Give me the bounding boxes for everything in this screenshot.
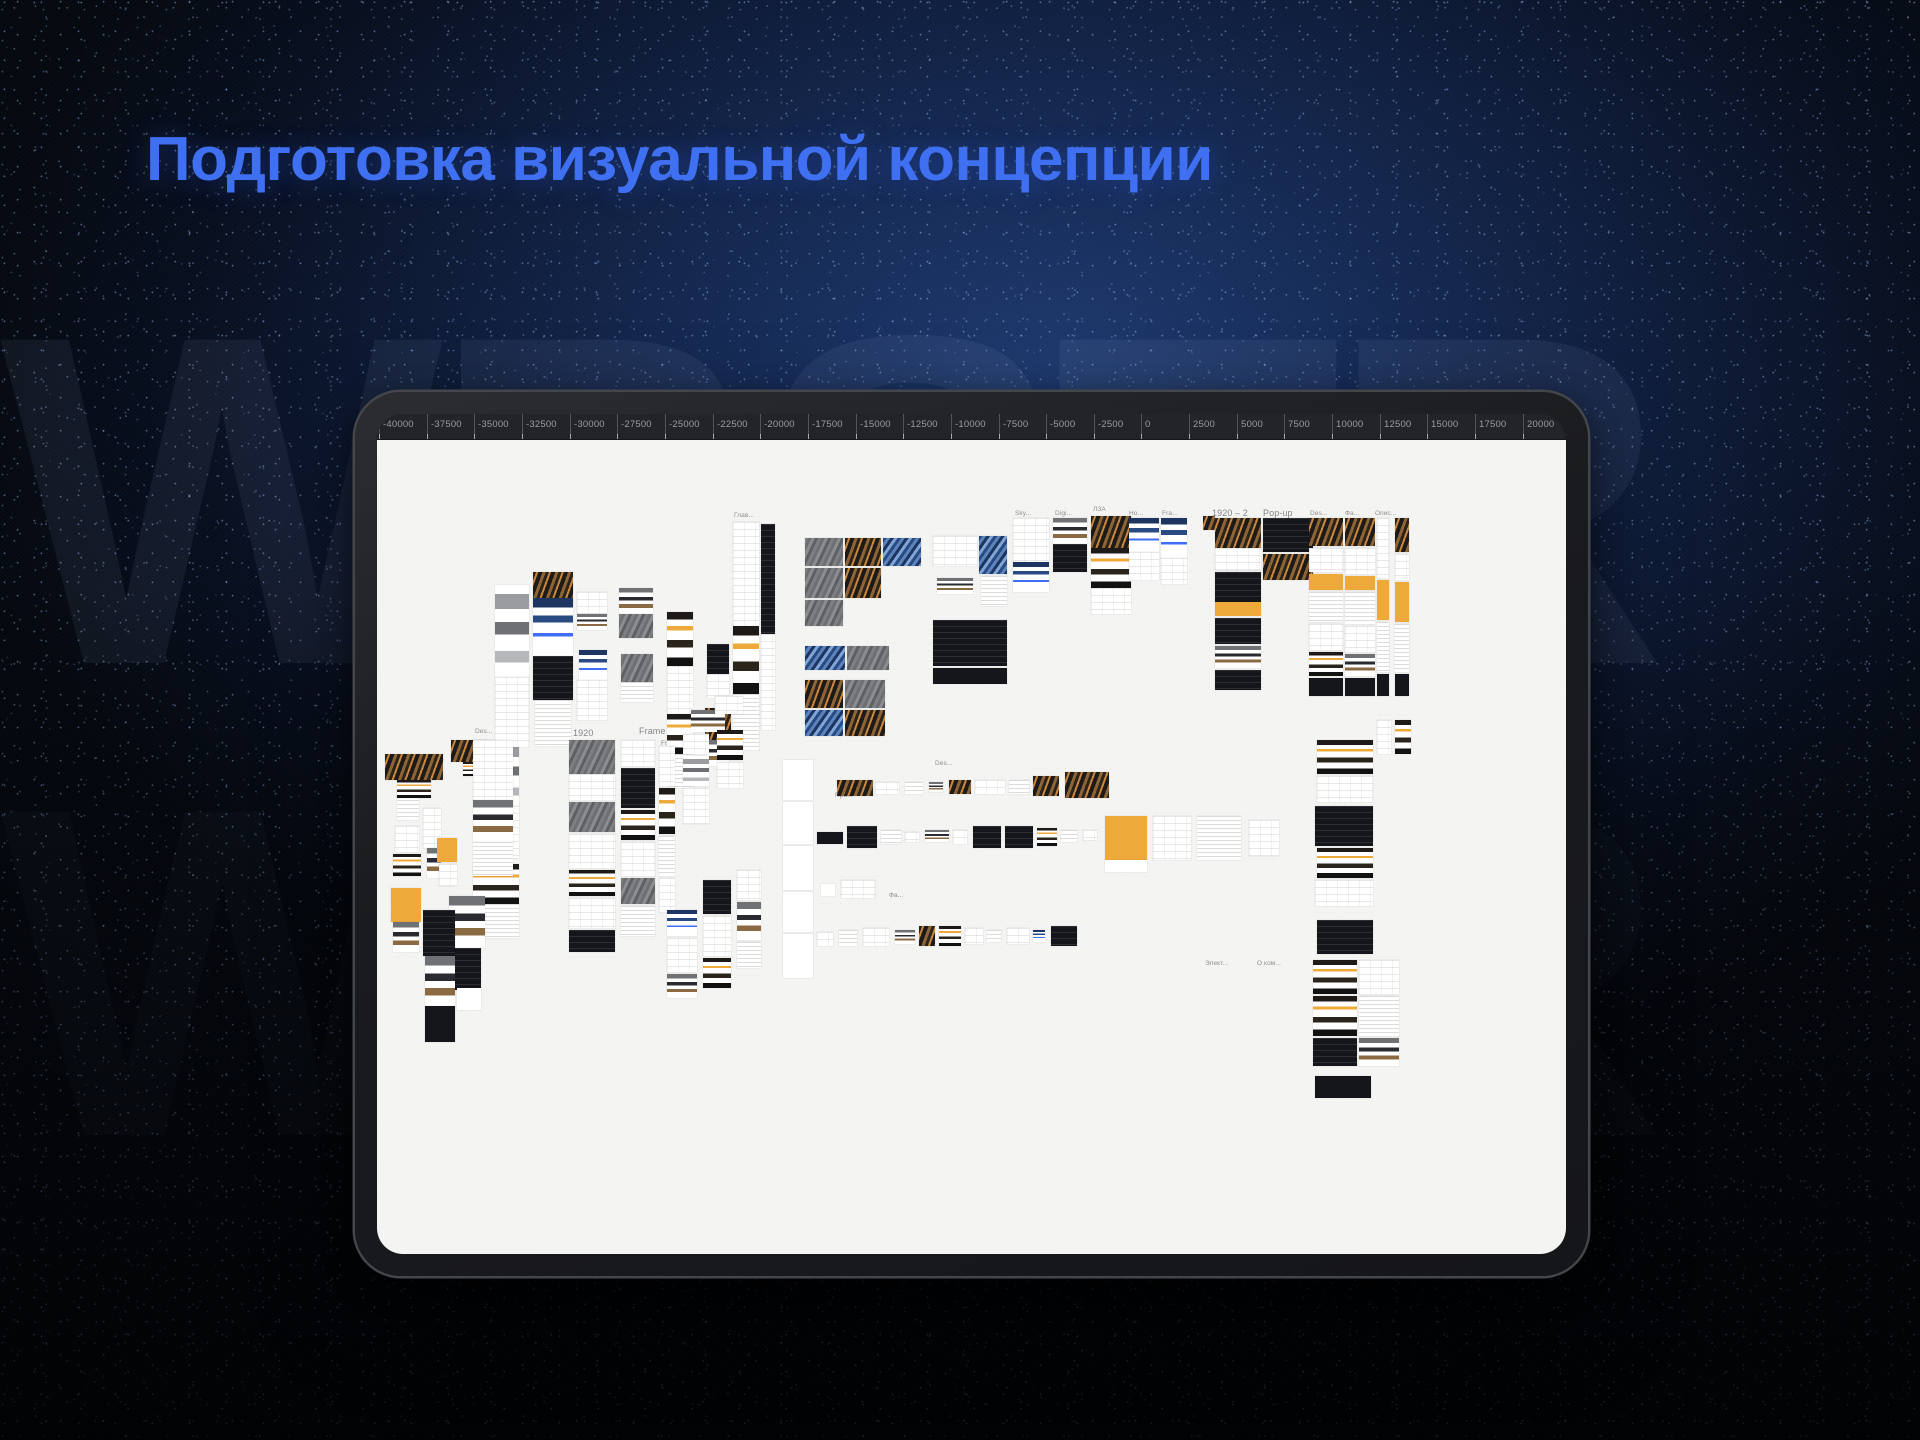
artboard-thumbnail[interactable] (569, 870, 615, 896)
artboard-thumbnail[interactable] (577, 592, 607, 614)
artboard-thumbnail[interactable] (1345, 626, 1375, 652)
artboard-thumbnail[interactable] (817, 932, 833, 946)
artboard-thumbnail[interactable] (1309, 518, 1343, 546)
artboard-thumbnail[interactable] (783, 934, 813, 978)
artboard-thumbnail[interactable] (805, 710, 843, 736)
artboard-thumbnail[interactable] (703, 916, 731, 956)
artboard-label[interactable]: Опис... (1375, 510, 1397, 517)
artboard-thumbnail[interactable] (621, 654, 653, 682)
artboard-thumbnail[interactable] (1309, 678, 1343, 696)
artboard-thumbnail[interactable] (1395, 582, 1409, 622)
artboard-label[interactable]: Элект... (1205, 960, 1228, 967)
artboard-thumbnail[interactable] (1395, 554, 1409, 580)
ruler-tick (760, 414, 761, 440)
ruler-tick (427, 414, 428, 440)
artboard-thumbnail[interactable] (1083, 830, 1097, 840)
ruler-tick (1475, 414, 1476, 440)
artboard-thumbnail[interactable] (619, 588, 653, 614)
artboard-thumbnail[interactable] (1007, 928, 1029, 944)
tablet-device-frame: -40000-37500-35000-32500-30000-27500-250… (355, 392, 1588, 1276)
artboard-thumbnail[interactable] (1203, 516, 1215, 530)
artboard-thumbnail[interactable] (733, 626, 759, 694)
artboard-thumbnail[interactable] (1161, 558, 1187, 584)
artboard-thumbnail[interactable] (925, 830, 949, 842)
artboard-thumbnail[interactable] (533, 656, 573, 700)
artboard-thumbnail[interactable] (733, 522, 759, 626)
artboard-thumbnail[interactable] (569, 898, 615, 928)
artboard-thumbnail[interactable] (821, 884, 835, 896)
artboard-thumbnail[interactable] (761, 634, 775, 730)
ruler-tick-label: 10000 (1336, 419, 1363, 430)
artboard-thumbnail[interactable] (1153, 816, 1191, 860)
artboard-thumbnail[interactable] (621, 810, 655, 840)
artboard-thumbnail[interactable] (1317, 776, 1373, 802)
artboard-thumbnail[interactable] (1377, 518, 1389, 578)
artboard-thumbnail[interactable] (1359, 1038, 1399, 1066)
artboard-thumbnail[interactable] (1395, 674, 1409, 696)
ruler-tick (1284, 414, 1285, 440)
artboard-thumbnail[interactable] (683, 788, 709, 824)
artboard-thumbnail[interactable] (1091, 588, 1131, 614)
ruler-tick-label: -35000 (478, 419, 509, 430)
artboard-thumbnail[interactable] (929, 782, 943, 792)
artboard-thumbnail[interactable] (457, 988, 481, 1010)
artboard-thumbnail[interactable] (841, 880, 875, 898)
artboard-thumbnail[interactable] (1309, 624, 1343, 650)
artboard-thumbnail[interactable] (949, 780, 971, 794)
artboard-thumbnail[interactable] (659, 878, 675, 912)
artboard-thumbnail[interactable] (569, 930, 615, 952)
artboard-thumbnail[interactable] (577, 680, 607, 720)
artboard-thumbnail[interactable] (1395, 518, 1409, 552)
artboard-thumbnail[interactable] (979, 536, 1007, 574)
canvas-ruler[interactable]: -40000-37500-35000-32500-30000-27500-250… (377, 414, 1566, 440)
artboard-thumbnail[interactable] (1359, 996, 1399, 1036)
artboard-thumbnail[interactable] (579, 650, 607, 680)
artboard-thumbnail[interactable] (883, 538, 921, 566)
artboard-label[interactable]: 1920 (573, 728, 593, 738)
artboard-thumbnail[interactable] (1061, 830, 1077, 842)
artboard-thumbnail[interactable] (1377, 580, 1389, 620)
artboard-thumbnail[interactable] (569, 774, 615, 800)
artboard-thumbnail[interactable] (839, 930, 857, 946)
artboard-thumbnail[interactable] (1091, 548, 1131, 588)
artboard-thumbnail[interactable] (621, 740, 655, 766)
design-canvas[interactable]: Глав...Sky...Digi...ЛЗАHo...Fra...1920 –… (377, 440, 1566, 1254)
artboard-thumbnail[interactable] (1263, 518, 1313, 552)
artboard-label[interactable]: Ho... (1129, 510, 1143, 517)
artboard-thumbnail[interactable] (1215, 572, 1261, 602)
artboard-thumbnail[interactable] (845, 680, 885, 708)
artboard-thumbnail[interactable] (495, 677, 529, 747)
artboard-thumbnail[interactable] (1359, 960, 1399, 994)
ruler-tick (1237, 414, 1238, 440)
artboard-thumbnail[interactable] (1395, 720, 1411, 754)
artboard-thumbnail[interactable] (1215, 618, 1261, 644)
ruler-tick-label: -12500 (907, 419, 938, 430)
ruler-tick-label: -2500 (1098, 419, 1123, 430)
artboard-thumbnail[interactable] (393, 922, 419, 952)
artboard-thumbnail[interactable] (845, 568, 881, 598)
artboard-thumbnail[interactable] (1013, 518, 1049, 562)
artboard-thumbnail[interactable] (933, 620, 1007, 666)
artboard-thumbnail[interactable] (621, 768, 655, 808)
artboard-thumbnail[interactable] (473, 740, 513, 800)
artboard-thumbnail[interactable] (569, 802, 615, 832)
artboard-thumbnail[interactable] (837, 780, 873, 796)
artboard-thumbnail[interactable] (621, 878, 655, 904)
artboard-label[interactable]: Digi... (1055, 510, 1072, 517)
artboard-thumbnail[interactable] (621, 842, 655, 876)
artboard-thumbnail[interactable] (1009, 780, 1029, 794)
artboard-thumbnail[interactable] (1309, 652, 1343, 676)
artboard-thumbnail[interactable] (619, 614, 653, 638)
artboard-thumbnail[interactable] (1065, 772, 1109, 798)
artboard-label[interactable]: Fra... (1162, 510, 1178, 517)
artboard-thumbnail[interactable] (1313, 996, 1357, 1036)
artboard-thumbnail[interactable] (1129, 518, 1159, 552)
artboard-thumbnail[interactable] (1345, 518, 1375, 546)
ruler-tick-label: 2500 (1193, 419, 1215, 430)
artboard-thumbnail[interactable] (1345, 678, 1375, 696)
artboard-thumbnail[interactable] (881, 830, 901, 844)
ruler-tick-label: -30000 (574, 419, 605, 430)
artboard-thumbnail[interactable] (1215, 646, 1261, 668)
ruler-tick-label: -5000 (1050, 419, 1075, 430)
artboard-thumbnail[interactable] (1315, 1076, 1371, 1098)
ruler-tick (1189, 414, 1190, 440)
artboard-thumbnail[interactable] (707, 674, 729, 698)
artboard-thumbnail[interactable] (953, 830, 967, 844)
ruler-tick-label: -27500 (621, 419, 652, 430)
artboard-thumbnail[interactable] (659, 746, 675, 786)
artboard-thumbnail[interactable] (975, 780, 1005, 794)
artboard-thumbnail[interactable] (621, 682, 653, 702)
artboard-thumbnail[interactable] (707, 644, 729, 674)
artboard-thumbnail[interactable] (1313, 960, 1357, 994)
artboard-thumbnail[interactable] (1309, 574, 1343, 590)
artboard-thumbnail[interactable] (1037, 828, 1057, 846)
artboard-thumbnail[interactable] (919, 926, 935, 946)
ruler-tick (951, 414, 952, 440)
artboard-thumbnail[interactable] (397, 780, 431, 798)
artboard-thumbnail[interactable] (805, 568, 843, 598)
ruler-tick (808, 414, 809, 440)
ruler-tick (570, 414, 571, 440)
artboard-thumbnail[interactable] (1315, 880, 1373, 906)
artboard-thumbnail[interactable] (1105, 816, 1147, 860)
ruler-tick-label: 20000 (1527, 419, 1554, 430)
artboard-label[interactable]: Глав... (734, 512, 754, 519)
artboard-thumbnail[interactable] (761, 524, 775, 634)
artboard-thumbnail[interactable] (569, 834, 615, 868)
ruler-tick-label: -7500 (1003, 419, 1028, 430)
ruler-tick-label: -22500 (717, 419, 748, 430)
artboard-thumbnail[interactable] (737, 870, 761, 900)
artboard-thumbnail[interactable] (423, 910, 455, 956)
artboard-thumbnail[interactable] (1377, 720, 1391, 754)
artboard-thumbnail[interactable] (1313, 1038, 1357, 1066)
artboard-thumbnail[interactable] (1309, 548, 1343, 572)
artboard-thumbnail[interactable] (933, 668, 1007, 684)
artboard-label[interactable]: Des... (935, 760, 953, 767)
ruler-tick (617, 414, 618, 440)
artboard-thumbnail[interactable] (533, 598, 573, 656)
artboard-thumbnail[interactable] (783, 760, 813, 800)
ruler-tick-label: -20000 (764, 419, 795, 430)
artboard-thumbnail[interactable] (973, 826, 1001, 848)
artboard-thumbnail[interactable] (1249, 820, 1279, 856)
ruler-tick (856, 414, 857, 440)
artboard-label[interactable]: Des... (1310, 510, 1328, 517)
ruler-tick-label: -15000 (860, 419, 891, 430)
ruler-tick-label: 0 (1145, 419, 1150, 430)
artboard-thumbnail[interactable] (933, 536, 977, 566)
artboard-thumbnail[interactable] (703, 880, 731, 914)
artboard-thumbnail[interactable] (1013, 562, 1049, 592)
artboard-thumbnail[interactable] (1263, 554, 1313, 580)
artboard-thumbnail[interactable] (1215, 518, 1261, 548)
artboard-thumbnail[interactable] (895, 930, 915, 944)
artboard-thumbnail[interactable] (905, 832, 919, 842)
artboard-thumbnail[interactable] (533, 572, 573, 598)
artboard-thumbnail[interactable] (473, 800, 513, 842)
artboard-thumbnail[interactable] (1161, 518, 1187, 558)
artboard-thumbnail[interactable] (1345, 592, 1375, 624)
artboard-thumbnail[interactable] (495, 585, 529, 677)
ruler-tick (1094, 414, 1095, 440)
artboard-thumbnail[interactable] (437, 838, 457, 862)
artboard-thumbnail[interactable] (683, 734, 709, 754)
artboard-thumbnail[interactable] (667, 666, 693, 714)
ruler-tick-label: -32500 (526, 419, 557, 430)
ruler-tick (1427, 414, 1428, 440)
ruler-tick (1380, 414, 1381, 440)
artboard-thumbnail[interactable] (805, 680, 843, 708)
artboard-thumbnail[interactable] (1317, 740, 1373, 774)
artboard-thumbnail[interactable] (1033, 930, 1045, 942)
artboard-thumbnail[interactable] (875, 782, 899, 794)
artboard-thumbnail[interactable] (1033, 776, 1059, 796)
artboard-thumbnail[interactable] (1309, 592, 1343, 622)
ruler-tick (379, 414, 380, 440)
artboard-thumbnail[interactable] (987, 930, 1001, 942)
artboard-thumbnail[interactable] (385, 754, 443, 780)
ruler-tick-label: 5000 (1241, 419, 1263, 430)
ruler-tick (1332, 414, 1333, 440)
artboard-label[interactable]: Pop-up (1263, 508, 1293, 518)
ruler-tick-label: -17500 (812, 419, 843, 430)
tablet-screen: -40000-37500-35000-32500-30000-27500-250… (377, 414, 1566, 1254)
artboard-thumbnail[interactable] (1215, 602, 1261, 616)
artboard-thumbnail[interactable] (1005, 826, 1033, 848)
artboard-thumbnail[interactable] (659, 788, 675, 834)
artboard-thumbnail[interactable] (937, 578, 973, 594)
artboard-thumbnail[interactable] (1215, 548, 1261, 570)
artboard-thumbnail[interactable] (805, 600, 843, 626)
ruler-tick (999, 414, 1000, 440)
ruler-tick-label: 15000 (1431, 419, 1458, 430)
artboard-label[interactable]: Фа... (1345, 510, 1359, 517)
artboard-thumbnail[interactable] (717, 730, 743, 760)
ruler-tick (522, 414, 523, 440)
artboard-thumbnail[interactable] (1377, 622, 1389, 672)
artboard-thumbnail[interactable] (391, 888, 421, 922)
artboard-thumbnail[interactable] (703, 958, 731, 988)
artboard-thumbnail[interactable] (425, 1006, 455, 1042)
ruler-tick-label: -10000 (955, 419, 986, 430)
artboard-thumbnail[interactable] (905, 782, 923, 794)
artboard-thumbnail[interactable] (1345, 548, 1375, 574)
artboard-thumbnail[interactable] (845, 710, 885, 736)
artboard-label[interactable]: Des... (475, 728, 493, 735)
artboard-thumbnail[interactable] (395, 826, 419, 852)
artboard-thumbnail[interactable] (1345, 654, 1375, 676)
artboard-thumbnail[interactable] (425, 956, 455, 1008)
ruler-tick-label: 12500 (1384, 419, 1411, 430)
artboard-thumbnail[interactable] (1053, 518, 1087, 544)
artboard-label[interactable]: ЛЗА (1093, 506, 1106, 513)
artboard-thumbnail[interactable] (1129, 552, 1159, 580)
artboard-thumbnail[interactable] (683, 756, 709, 786)
artboard-thumbnail[interactable] (473, 842, 513, 876)
artboard-thumbnail[interactable] (717, 762, 743, 788)
artboard-label[interactable]: О ком... (1257, 960, 1281, 967)
artboard-thumbnail[interactable] (569, 740, 615, 774)
artboard-label[interactable]: Фа... (889, 892, 903, 899)
artboard-thumbnail[interactable] (1091, 516, 1131, 548)
ruler-tick-label: 17500 (1479, 419, 1506, 430)
artboard-thumbnail[interactable] (1051, 926, 1077, 946)
artboard-thumbnail[interactable] (1215, 670, 1261, 690)
artboard-thumbnail[interactable] (667, 910, 697, 936)
artboard-label[interactable]: Sky... (1015, 510, 1031, 517)
artboard-thumbnail[interactable] (659, 836, 675, 876)
artboard-thumbnail[interactable] (1317, 920, 1373, 954)
ruler-tick-label: -40000 (383, 419, 414, 430)
artboard-thumbnail[interactable] (863, 928, 889, 946)
artboard-thumbnail[interactable] (577, 614, 607, 630)
artboard-thumbnail[interactable] (1395, 624, 1409, 672)
artboard-thumbnail[interactable] (535, 700, 571, 746)
artboard-thumbnail[interactable] (783, 892, 813, 932)
artboard-thumbnail[interactable] (1197, 816, 1241, 860)
ruler-tick-label: -25000 (669, 419, 700, 430)
artboard-thumbnail[interactable] (845, 538, 881, 566)
artboard-thumbnail[interactable] (805, 538, 843, 566)
artboard-thumbnail[interactable] (1315, 806, 1373, 846)
artboard-label[interactable]: 1920 – 2 (1212, 508, 1248, 518)
artboard-thumbnail[interactable] (667, 974, 697, 998)
artboard-thumbnail[interactable] (783, 846, 813, 890)
artboard-thumbnail[interactable] (1345, 576, 1375, 590)
ruler-tick-label: -37500 (431, 419, 462, 430)
artboard-thumbnail[interactable] (783, 802, 813, 844)
artboard-thumbnail[interactable] (737, 942, 761, 968)
ruler-tick (474, 414, 475, 440)
artboard-thumbnail[interactable] (439, 864, 457, 886)
artboard-thumbnail[interactable] (1053, 544, 1087, 572)
artboard-thumbnail[interactable] (455, 948, 481, 990)
artboard-thumbnail[interactable] (939, 926, 961, 946)
artboard-label[interactable]: Frame (639, 726, 666, 736)
artboard-thumbnail[interactable] (621, 906, 655, 936)
artboard-thumbnail[interactable] (667, 938, 697, 972)
artboard-thumbnail[interactable] (981, 576, 1007, 606)
artboard-thumbnail[interactable] (965, 928, 983, 944)
artboard-thumbnail[interactable] (1317, 848, 1373, 878)
artboard-thumbnail[interactable] (847, 826, 877, 848)
ruler-tick (665, 414, 666, 440)
ruler-tick (1141, 414, 1142, 440)
artboard-thumbnail[interactable] (817, 832, 843, 844)
artboard-thumbnail[interactable] (737, 902, 761, 940)
page-title: Подготовка визуальной концепции (146, 124, 1213, 195)
ruler-tick (1523, 414, 1524, 440)
artboard-thumbnail[interactable] (847, 646, 889, 670)
artboard-thumbnail[interactable] (667, 612, 693, 666)
ruler-tick (903, 414, 904, 440)
artboard-thumbnail[interactable] (1105, 860, 1147, 872)
ruler-tick (713, 414, 714, 440)
slide-canvas: W B S T R W B S T R Подготовка визуально… (0, 0, 1920, 1440)
artboard-thumbnail[interactable] (1377, 674, 1389, 696)
artboard-thumbnail[interactable] (393, 854, 421, 876)
ruler-tick (1046, 414, 1047, 440)
artboard-thumbnail[interactable] (805, 646, 845, 670)
ruler-tick-label: 7500 (1288, 419, 1310, 430)
artboard-thumbnail[interactable] (715, 696, 743, 714)
